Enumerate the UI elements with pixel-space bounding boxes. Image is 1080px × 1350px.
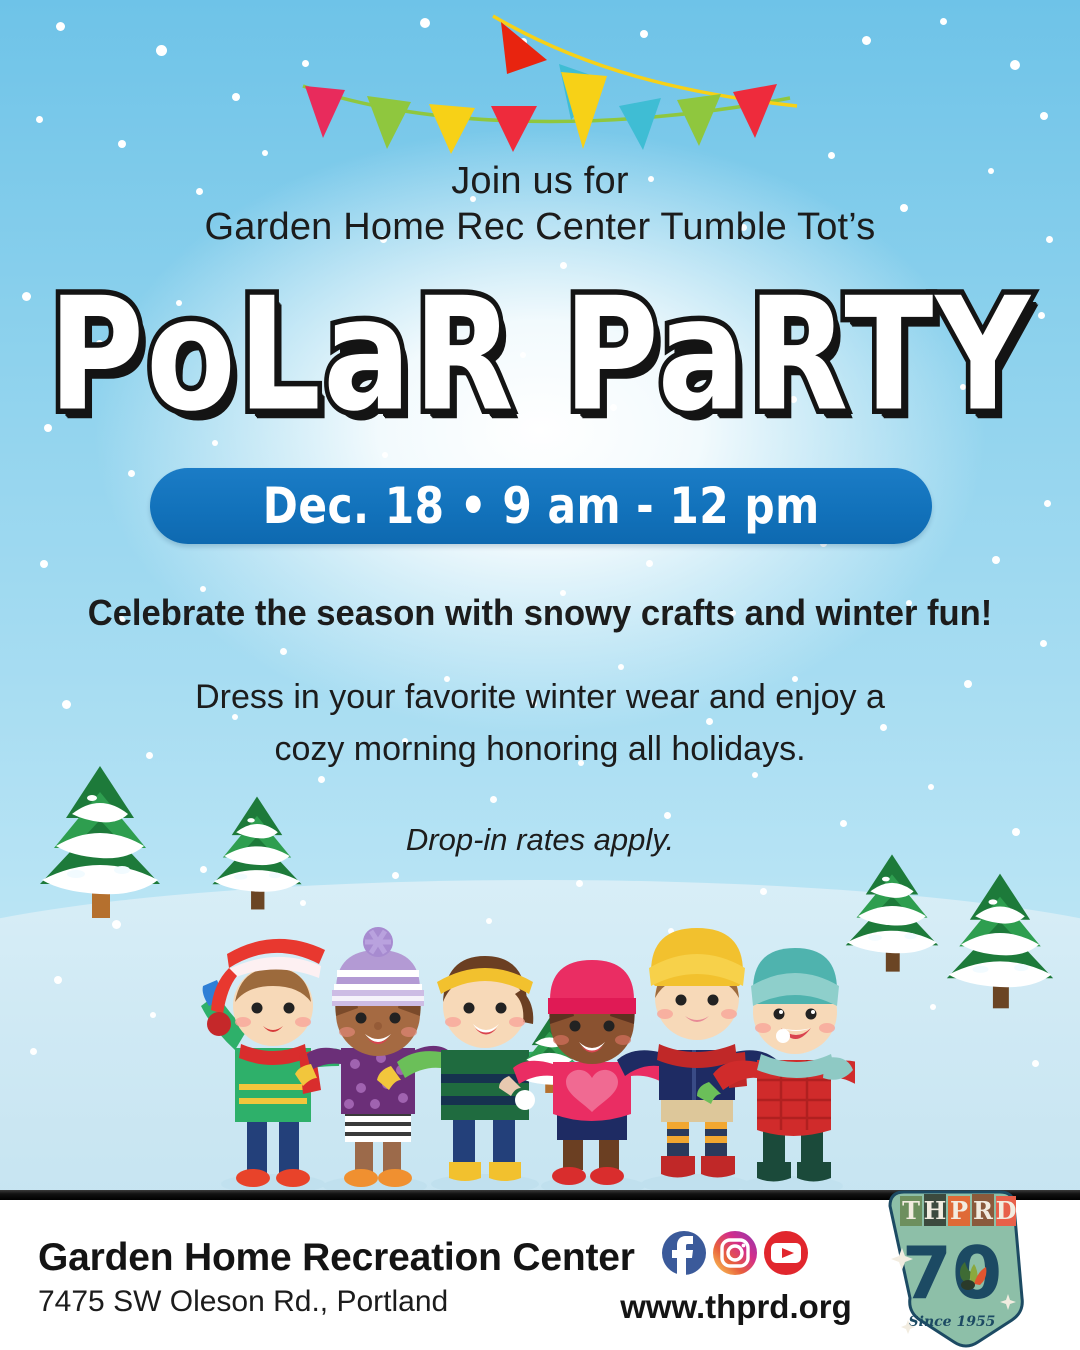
snowflake (490, 796, 497, 803)
social-icons (660, 1227, 810, 1279)
snowflake (118, 140, 126, 148)
children-illustration (195, 898, 855, 1196)
tagline: Celebrate the season with snowy crafts a… (22, 592, 1059, 634)
svg-text:H: H (924, 1196, 947, 1225)
snowflake (150, 1012, 156, 1018)
snowflake (646, 560, 653, 567)
snowflake (930, 1004, 936, 1010)
date-time-banner: Dec. 18 • 9 am - 12 pm (150, 468, 932, 544)
snowflake (576, 880, 583, 887)
child-5 (617, 928, 777, 1178)
venue-address: 7475 SW Oleson Rd., Portland (38, 1285, 638, 1319)
snowflake (828, 152, 835, 159)
snowflake (992, 556, 1000, 564)
poster: Join us for Garden Home Rec Center Tumbl… (0, 0, 1080, 1350)
snowflake (30, 1048, 37, 1055)
pine-tree-icon (30, 762, 170, 922)
snowflake (752, 772, 758, 778)
snowflake (1040, 112, 1048, 120)
snowflake (128, 470, 135, 477)
svg-text:70: 70 (902, 1231, 1002, 1315)
snowflake (940, 18, 947, 25)
bunting-flags (285, 14, 805, 154)
venue-name: Garden Home Recreation Center (38, 1236, 638, 1280)
snowflake (56, 22, 65, 31)
snowflake (928, 784, 934, 790)
snowflake (156, 45, 167, 56)
snowflake (706, 718, 713, 725)
logo-since-text: Since 1955 (909, 1314, 996, 1330)
page-title: PoLaR PaRTY (48, 278, 1032, 434)
youtube-icon (764, 1231, 808, 1275)
website-url: www.thprd.org (596, 1288, 876, 1326)
snowflake (392, 872, 399, 879)
snowflake (382, 452, 388, 458)
snowflake (1040, 640, 1047, 647)
svg-text:D: D (996, 1196, 1017, 1225)
svg-text:R: R (973, 1196, 994, 1225)
snowflake (318, 776, 325, 783)
svg-text:P: P (950, 1196, 968, 1225)
snowflake (232, 93, 240, 101)
pine-tree-icon (938, 866, 1062, 1016)
snowflake (262, 150, 268, 156)
date-time-text: Dec. 18 • 9 am - 12 pm (263, 477, 820, 535)
snowflake (54, 976, 62, 984)
snowflake (760, 888, 767, 895)
intro-line-2: Garden Home Rec Center Tumble Tot’s (0, 206, 1080, 249)
description-line-1: Dress in your favorite winter wear and e… (0, 678, 1080, 717)
snowflake (36, 116, 43, 123)
facebook-icon (662, 1231, 706, 1275)
thprd-logo: T H P R D 70 Since 1955 (868, 1186, 1036, 1350)
snowflake (664, 812, 671, 819)
svg-text:T: T (902, 1196, 920, 1225)
winter-scene: Join us for Garden Home Rec Center Tumbl… (0, 0, 1080, 1196)
snowflake (1044, 500, 1051, 507)
snowflake (1010, 60, 1020, 70)
snowflake (1032, 1060, 1039, 1067)
snowflake (862, 36, 871, 45)
instagram-icon (713, 1231, 757, 1275)
snowflake (40, 560, 48, 568)
intro-line-1: Join us for (0, 160, 1080, 203)
title-container: PoLaR PaRTY (0, 278, 1080, 418)
snowflake (618, 664, 624, 670)
snowflake (280, 648, 287, 655)
